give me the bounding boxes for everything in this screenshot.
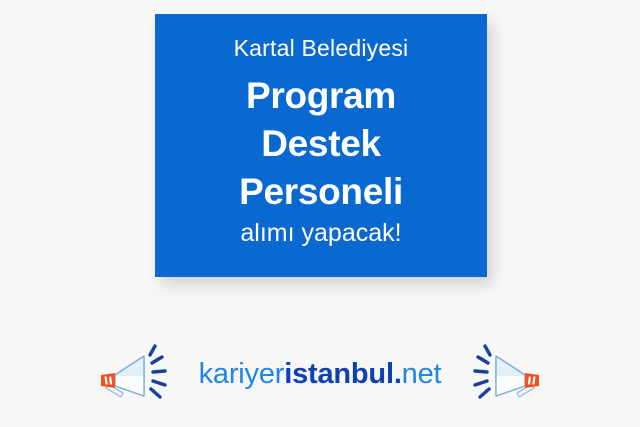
card-subline-text: alımı yapacak! (240, 220, 401, 248)
brand-strip: kariyeristanbul.net (0, 338, 640, 410)
brand-wordmark-dot: . (394, 358, 402, 390)
announcement-card: Kartal Belediyesi Program Destek Persone… (155, 14, 487, 277)
card-headline-line-2: Destek (261, 125, 381, 162)
card-eyebrow-text: Kartal Belediyesi (234, 36, 409, 61)
brand-wordmark-istanbul: istanbul (284, 358, 394, 390)
megaphone-icon-left (97, 343, 173, 405)
brand-wordmark-kariyer: kariyer (199, 358, 285, 390)
card-headline-line-1: Program (246, 77, 396, 114)
card-headline-line-3: Personeli (239, 173, 403, 210)
brand-wordmark: kariyeristanbul.net (199, 360, 442, 389)
megaphone-icon-right (467, 343, 543, 405)
brand-wordmark-net: net (402, 358, 442, 390)
